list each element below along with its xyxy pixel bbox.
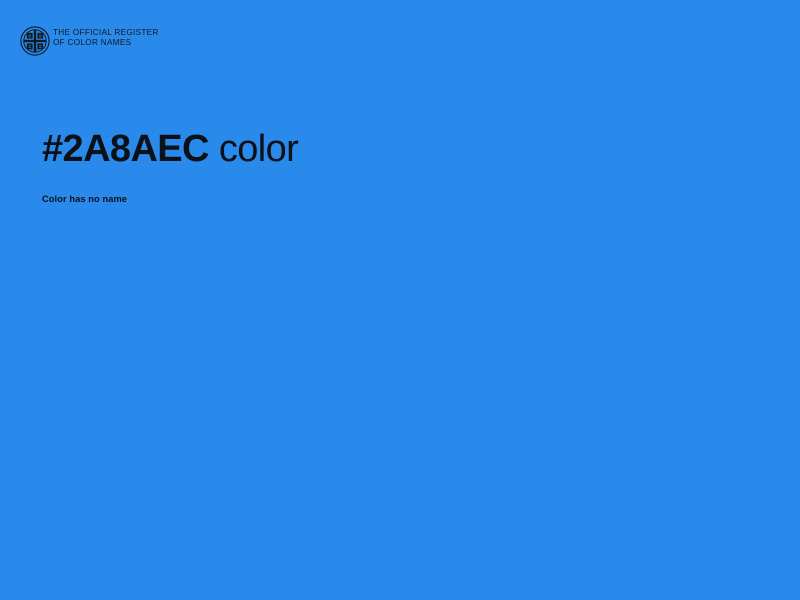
site-wordmark: THE OFFICIAL REGISTER OF COLOR NAMES bbox=[53, 26, 159, 49]
wordmark-line-2: OF COLOR NAMES bbox=[53, 38, 159, 48]
color-name-status: Color has no name bbox=[42, 172, 742, 206]
color-detail-page: REGISTER THE OFFICIAL REGISTER OF COLOR … bbox=[0, 0, 800, 600]
page-title: #2A8AEC color bbox=[42, 126, 742, 172]
wordmark-line-1: THE OFFICIAL REGISTER bbox=[53, 28, 159, 38]
register-seal-icon: REGISTER bbox=[20, 26, 50, 56]
color-hex-value: #2A8AEC bbox=[42, 128, 209, 170]
color-info-block: #2A8AEC color Color has no name bbox=[42, 126, 742, 206]
site-logo-link[interactable]: REGISTER THE OFFICIAL REGISTER OF COLOR … bbox=[20, 26, 159, 56]
page-title-suffix: color bbox=[209, 128, 298, 170]
